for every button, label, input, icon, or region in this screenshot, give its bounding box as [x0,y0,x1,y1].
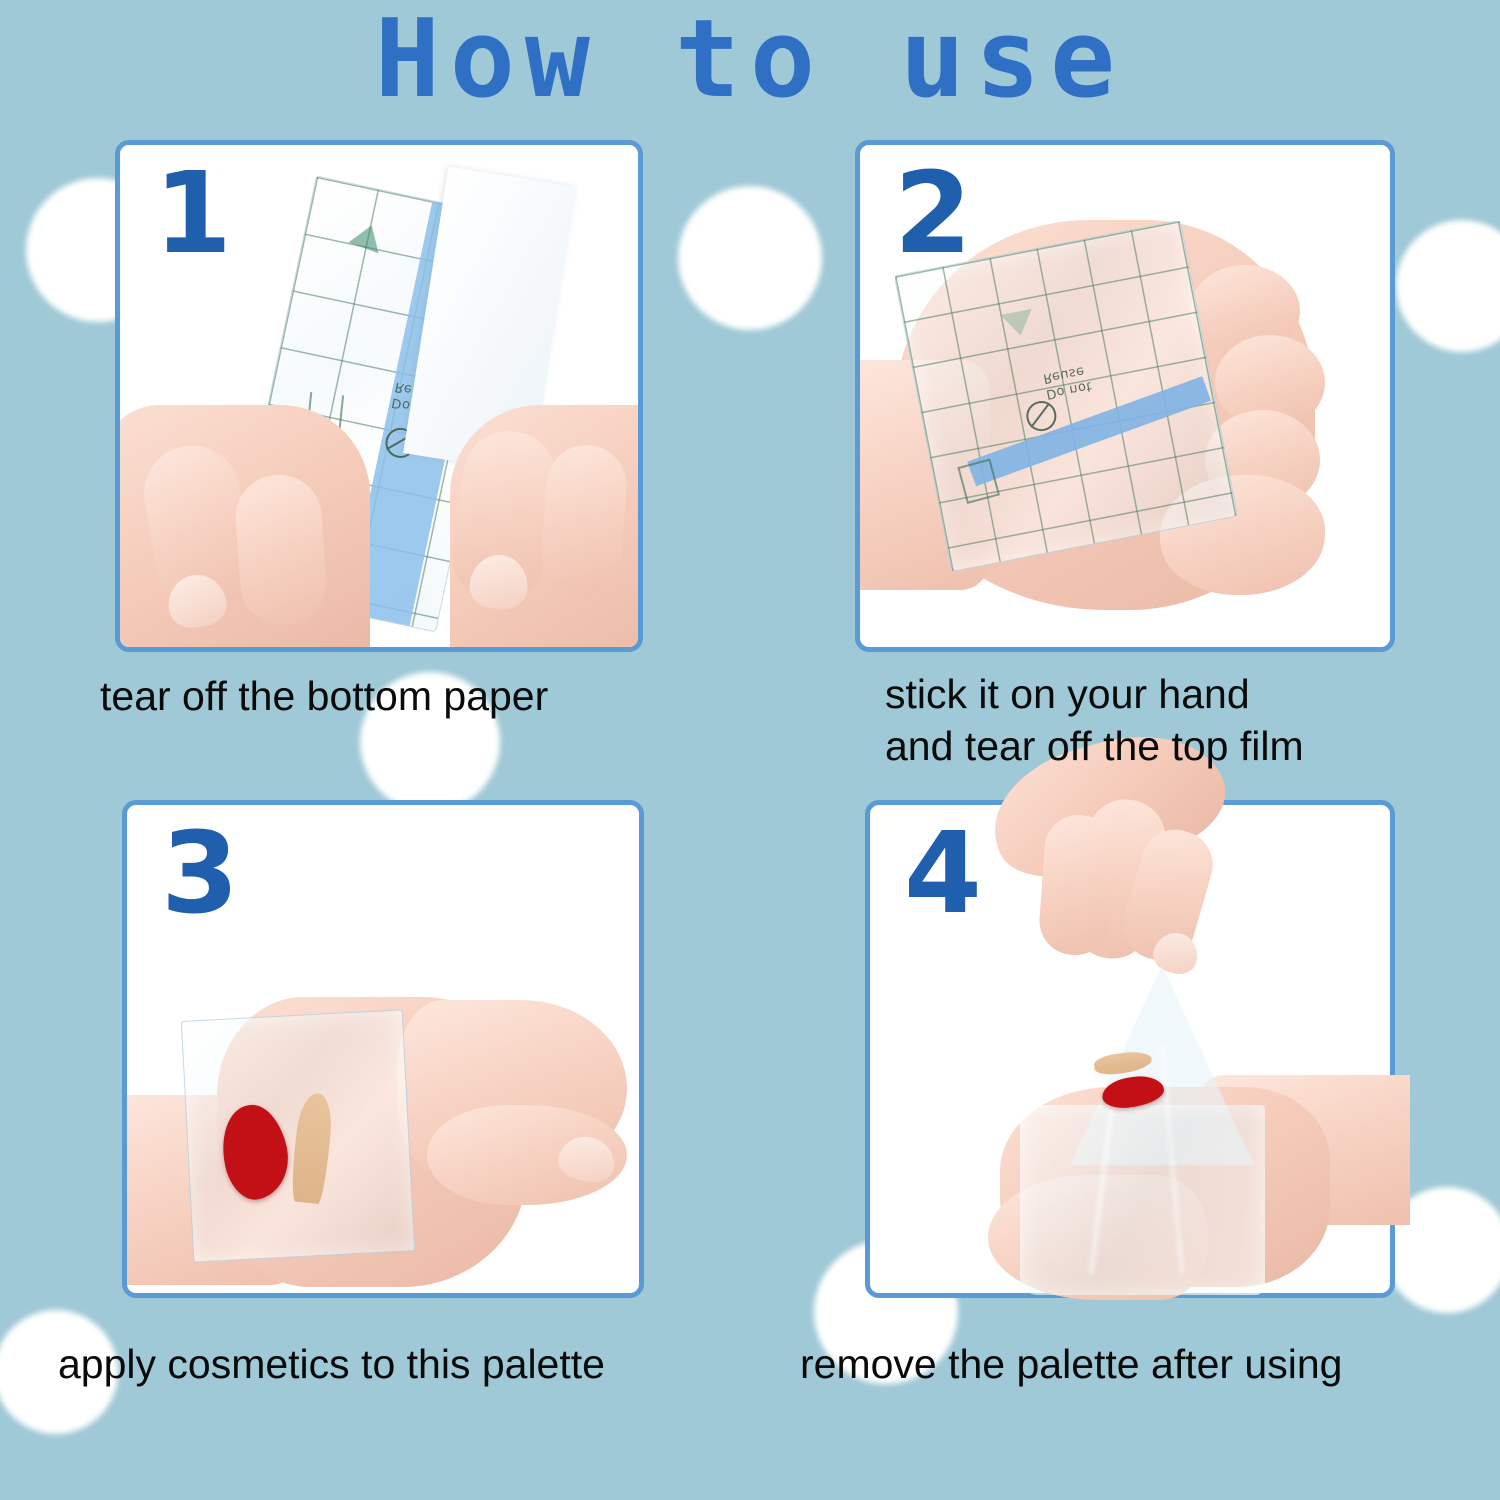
step-2-number: 2 [894,153,972,276]
step-4-panel: 4 [865,800,1395,1298]
step-4-caption: remove the palette after using [800,1338,1342,1390]
upper-hand-middle [1037,813,1117,958]
step-3-caption: apply cosmetics to this palette [58,1338,605,1390]
step-4-caption-line-1: remove the palette after using [800,1338,1342,1390]
step-1-caption-line-1: tear off the bottom paper [100,670,548,722]
peeled-film-body [1020,1105,1265,1295]
how-to-use-infographic: How to use Do not [0,0,1500,1500]
step-3-panel: 3 [122,800,644,1298]
step-4-number: 4 [904,813,982,936]
step-1-caption: tear off the bottom paper [100,670,548,722]
step-1-panel: Do not Reuse [115,140,643,652]
left-index-finger [233,472,329,628]
step-2-caption: stick it on your hand and tear off the t… [885,668,1304,773]
steps-grid: Do not Reuse [0,0,1500,1500]
step-3-number: 3 [161,813,239,936]
right-index-finger [539,442,629,597]
step-1-number: 1 [154,153,232,276]
step-2-caption-line-1: stick it on your hand [885,668,1304,720]
step-3-caption-line-1: apply cosmetics to this palette [58,1338,605,1390]
step-2-caption-line-2: and tear off the top film [885,720,1304,772]
step-2-panel: Do not Reuse 2 [855,140,1395,652]
page-title: How to use [0,6,1500,114]
